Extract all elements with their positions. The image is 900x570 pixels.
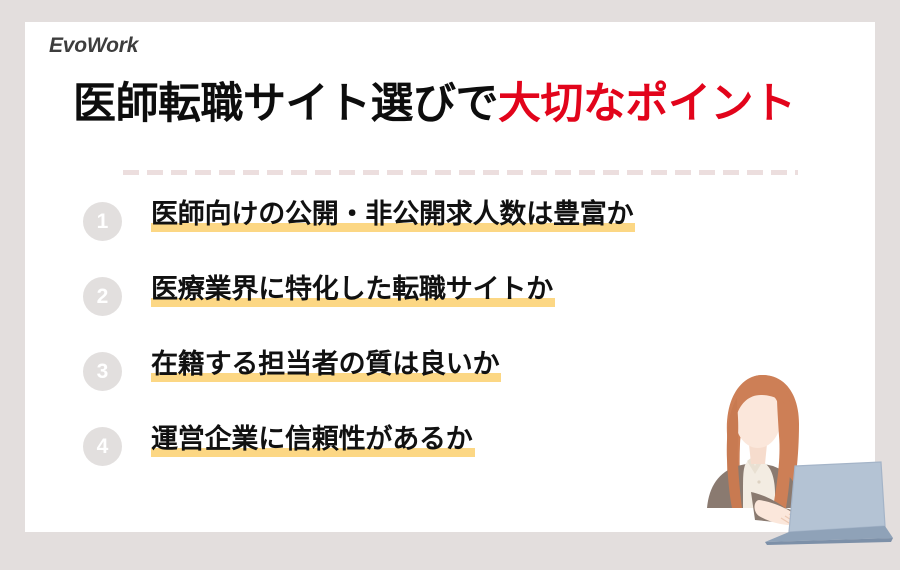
list-item-number-badge: 4 xyxy=(83,427,122,466)
page-title-black-part: 医師転職サイト選びで xyxy=(73,79,498,129)
slide-canvas: EvoWork 医師転職サイト選びで大切なポイント 1 医師向けの公開・非公開求… xyxy=(0,0,900,570)
list-item-text-wrap: 医療業界に特化した転職サイトか xyxy=(151,272,555,308)
list-item-text-wrap: 在籍する担当者の質は良いか xyxy=(151,347,501,383)
woman-using-laptop-illustration xyxy=(685,362,900,554)
list-item-text-wrap: 医師向けの公開・非公開求人数は豊富か xyxy=(151,197,635,233)
list-item-text-wrap: 運営企業に信頼性があるか xyxy=(151,422,475,458)
laptop-screen xyxy=(789,462,885,532)
list-item: 1 医師向けの公開・非公開求人数は豊富か xyxy=(83,188,813,263)
page-title: 医師転職サイト選びで大切なポイント xyxy=(73,80,863,128)
list-item-label: 在籍する担当者の質は良いか xyxy=(151,349,501,382)
brand-logo: EvoWork xyxy=(49,34,138,58)
list-item-number-badge: 2 xyxy=(83,277,122,316)
list-item: 2 医療業界に特化した転職サイトか xyxy=(83,263,813,338)
list-item-number-badge: 3 xyxy=(83,352,122,391)
list-item-label: 運営企業に信頼性があるか xyxy=(151,424,475,457)
list-item-label: 医療業界に特化した転職サイトか xyxy=(151,274,555,307)
dashed-divider xyxy=(123,170,798,175)
page-title-red-part: 大切なポイント xyxy=(498,79,796,129)
list-item-label: 医師向けの公開・非公開求人数は豊富か xyxy=(151,199,635,232)
button-icon xyxy=(757,480,760,483)
list-item-number-badge: 1 xyxy=(83,202,122,241)
content-card: EvoWork 医師転職サイト選びで大切なポイント 1 医師向けの公開・非公開求… xyxy=(25,22,875,532)
